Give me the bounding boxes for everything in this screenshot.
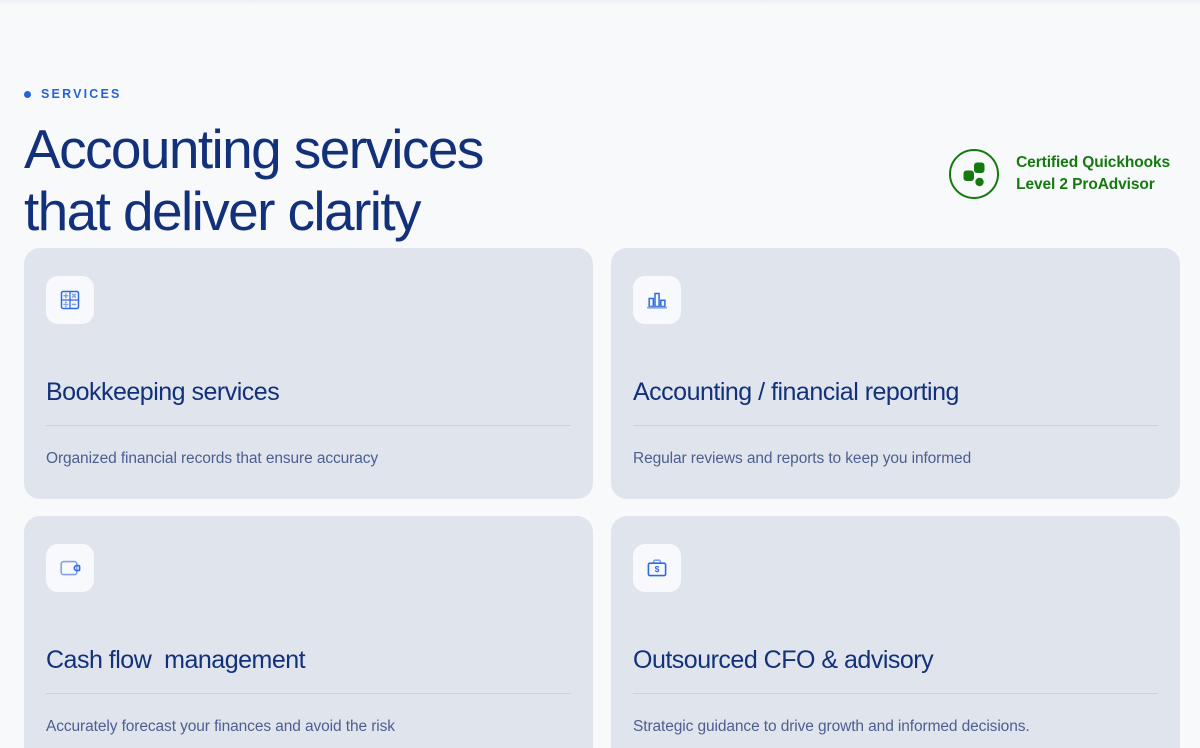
service-card-description: Accurately forecast your finances and av… (46, 716, 571, 738)
card-divider (46, 693, 571, 694)
service-card-title: Bookkeeping services (46, 378, 571, 407)
service-card-title: Accounting / financial reporting (633, 378, 1158, 407)
page-title-line-1: Accounting services (24, 122, 724, 177)
service-card-description: Regular reviews and reports to keep you … (633, 448, 1158, 470)
card-divider (46, 425, 571, 426)
service-card-description: Organized financial records that ensure … (46, 448, 571, 470)
service-card-title: Outsourced CFO & advisory (633, 646, 1158, 675)
service-card-cash-flow[interactable]: Cash flow management Accurately forecast… (24, 516, 593, 748)
svg-text:$: $ (655, 565, 660, 575)
eyebrow: SERVICES (24, 86, 1176, 102)
icon-tile (633, 276, 681, 324)
service-card-title: Cash flow management (46, 646, 571, 675)
eyebrow-label: SERVICES (41, 88, 122, 101)
certification-badge-line-1: Certified Quickhooks (1016, 152, 1170, 174)
page-title-line-2: that deliver clarity (24, 184, 724, 239)
card-divider (633, 693, 1158, 694)
quickbooks-circle-logo-icon (948, 148, 1000, 200)
icon-tile (46, 544, 94, 592)
icon-tile: $ (633, 544, 681, 592)
services-page: SERVICES Accounting services that delive… (0, 0, 1200, 748)
services-grid: Bookkeeping services Organized financial… (24, 248, 1176, 748)
icon-tile (46, 276, 94, 324)
bullet-dot-icon (24, 91, 31, 98)
card-divider (633, 425, 1158, 426)
page-header: SERVICES Accounting services that delive… (24, 0, 1176, 248)
page-title: Accounting services that deliver clarity (24, 122, 724, 239)
certification-badge-line-2: Level 2 ProAdvisor (1016, 174, 1170, 196)
certification-badge-text: Certified Quickhooks Level 2 ProAdvisor (1016, 152, 1170, 197)
service-card-bookkeeping[interactable]: Bookkeeping services Organized financial… (24, 248, 593, 499)
service-card-outsourced-cfo[interactable]: $ Outsourced CFO & advisory Strategic gu… (611, 516, 1180, 748)
service-card-accounting-reporting[interactable]: Accounting / financial reporting Regular… (611, 248, 1180, 499)
service-card-description: Strategic guidance to drive growth and i… (633, 716, 1158, 738)
certification-badge: Certified Quickhooks Level 2 ProAdvisor (948, 148, 1170, 200)
